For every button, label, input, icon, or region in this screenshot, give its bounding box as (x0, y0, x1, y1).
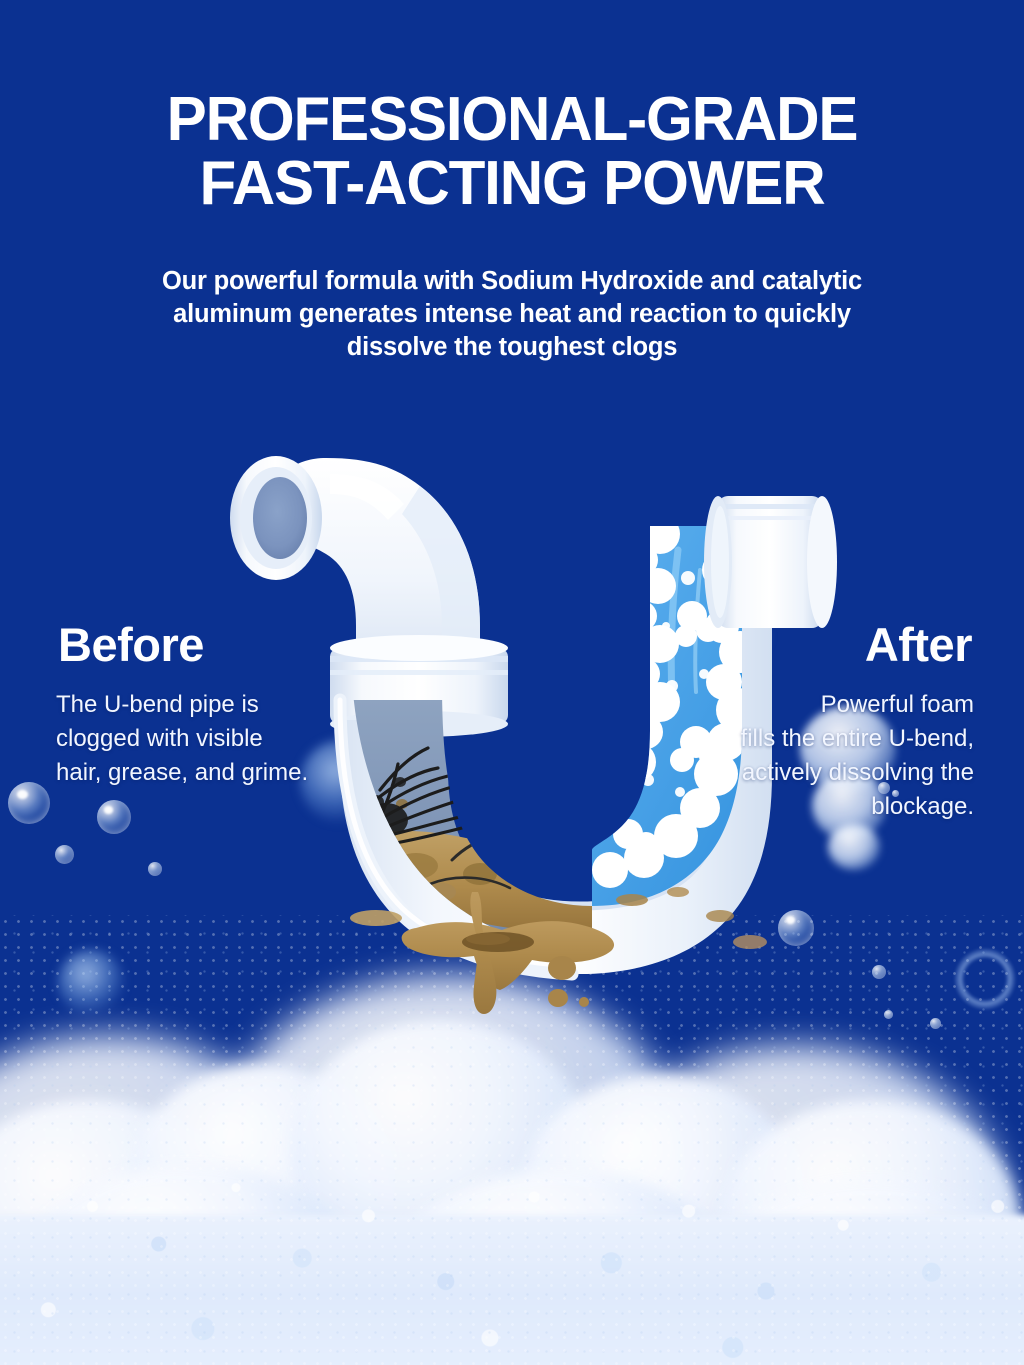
before-label: Before (58, 617, 204, 672)
infographic-canvas: PROFESSIONAL-GRADE FAST-ACTING POWER Our… (0, 0, 1024, 1365)
pipe-bore-opening (253, 477, 307, 559)
bubble (55, 845, 74, 864)
bubble (930, 1018, 941, 1029)
before-description: The U-bend pipe is clogged with visible … (56, 688, 356, 790)
hair-strand-group (492, 732, 572, 812)
bubble (884, 1010, 893, 1019)
bubble (872, 965, 886, 979)
bubble-glow (58, 950, 124, 1016)
pipe-outlet-stub (704, 496, 837, 628)
sludge-droplet (579, 997, 589, 1007)
page-title: PROFESSIONAL-GRADE FAST-ACTING POWER (15, 88, 1008, 216)
after-description: Powerful foam fills the entire U-bend, a… (654, 688, 974, 824)
sludge-droplet (548, 989, 568, 1007)
after-label: After (865, 617, 972, 672)
page-subtitle: Our powerful formula with Sodium Hydroxi… (88, 265, 936, 364)
bubble (97, 800, 131, 834)
bubble (148, 862, 162, 876)
bubble (8, 782, 50, 824)
bubble-ring (954, 948, 1016, 1010)
